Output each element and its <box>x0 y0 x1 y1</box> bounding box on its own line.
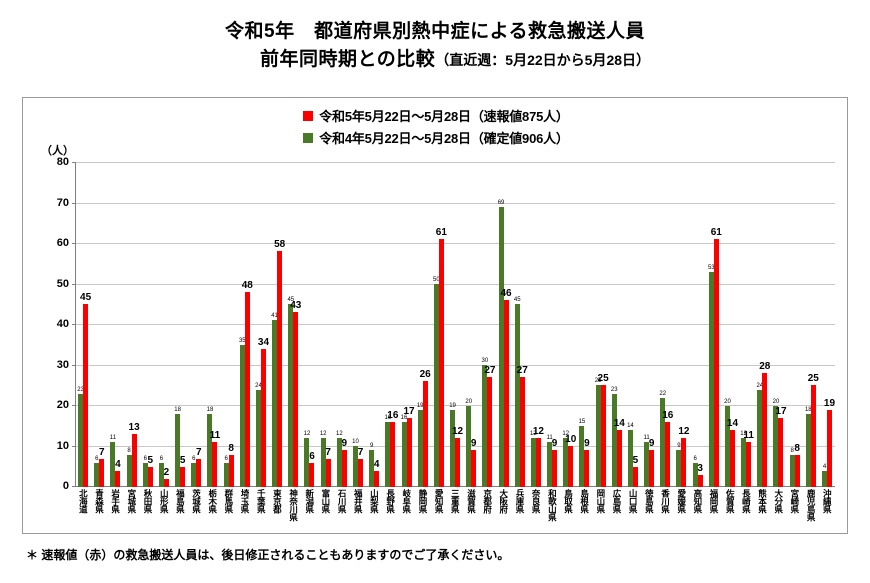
bar-group[interactable]: 2525 <box>593 162 609 487</box>
x-axis-label: 茨城県 <box>188 489 204 521</box>
bar-group[interactable]: 62 <box>156 162 172 487</box>
bar-group[interactable]: 1212 <box>528 162 544 487</box>
x-axis-label: 奈良県 <box>528 489 544 521</box>
x-axis-label-text: 鳥取県 <box>564 489 573 521</box>
x-axis-label: 群馬県 <box>221 489 237 521</box>
y-axis-tick-label: 10 <box>57 440 69 452</box>
bar-group[interactable]: 1825 <box>803 162 819 487</box>
legend-label-previous: 令和4年5月22日〜5月28日（確定値906人） <box>319 128 569 147</box>
bar-group[interactable]: 63 <box>690 162 706 487</box>
bar-value-label-previous: 9 <box>370 443 373 449</box>
bar-current-year[interactable]: 14 <box>730 430 735 487</box>
x-axis-label: 福島県 <box>172 489 188 521</box>
bar-current-year[interactable]: 6 <box>309 463 314 487</box>
x-axis-label-text: 宮崎県 <box>790 489 799 521</box>
bar-current-year[interactable]: 16 <box>665 422 670 487</box>
bar-value-label-current: 3 <box>697 464 703 474</box>
y-axis-tick-label: 20 <box>57 399 69 411</box>
x-axis-label: 山形県 <box>156 489 172 521</box>
x-axis-label: 和歌山県 <box>544 489 560 521</box>
bar-value-label-current: 26 <box>420 370 431 380</box>
x-axis-label: 宮城県 <box>124 489 140 521</box>
bar-group[interactable]: 1912 <box>447 162 463 487</box>
bar-value-label-previous: 8 <box>127 448 130 454</box>
bar-value-label-current: 4 <box>374 460 380 470</box>
bar-value-label-previous: 11 <box>110 435 116 441</box>
x-axis-label: 沖縄県 <box>819 489 835 521</box>
x-axis-label-text: 北海道 <box>79 489 88 521</box>
bar-value-label-current: 12 <box>533 427 544 437</box>
x-axis-label: 大分県 <box>770 489 786 521</box>
bar-value-label-current: 19 <box>824 399 835 409</box>
bar-value-label-previous: 6 <box>144 456 147 462</box>
title-line-1: 令和5年 都道府県別熱中症による救急搬送人員 <box>0 18 870 46</box>
x-axis-label: 山口県 <box>625 489 641 521</box>
bar-value-label-previous: 12 <box>336 431 343 437</box>
x-axis-label: 熊本県 <box>754 489 770 521</box>
bar-current-year[interactable]: 9 <box>342 450 347 487</box>
x-axis-label: 新潟県 <box>301 489 317 521</box>
x-axis-label-text: 佐賀県 <box>726 489 735 521</box>
bar-group[interactable]: 2216 <box>657 162 673 487</box>
x-axis-label-text: 福岡県 <box>710 489 719 521</box>
bar-value-label-current: 5 <box>180 456 186 466</box>
x-axis-label: 佐賀県 <box>722 489 738 521</box>
x-axis-label-text: 鹿児島県 <box>807 489 816 521</box>
bar-value-label-previous: 12 <box>320 431 327 437</box>
x-axis-label: 滋賀県 <box>463 489 479 521</box>
bar-current-year[interactable]: 5 <box>180 467 185 487</box>
chart-legend: 令和5年5月22日〜5月28日（速報値875人） 令和4年5月22日〜5月28日… <box>23 106 849 147</box>
bar-group[interactable]: 5061 <box>431 162 447 487</box>
x-axis-label: 島根県 <box>576 489 592 521</box>
bar-value-label-previous: 4 <box>823 464 826 470</box>
bar-value-label-current: 58 <box>274 240 285 250</box>
x-axis-label: 福岡県 <box>706 489 722 521</box>
y-axis-tick-label: 80 <box>57 156 69 168</box>
bar-group[interactable]: 107 <box>350 162 366 487</box>
legend-swatch-red-icon <box>303 111 313 121</box>
bar-value-label-current: 45 <box>80 293 91 303</box>
x-axis-label: 高知県 <box>690 489 706 521</box>
bar-group[interactable]: 5361 <box>706 162 722 487</box>
x-axis-label: 千葉県 <box>253 489 269 521</box>
bar-group[interactable]: 3548 <box>237 162 253 487</box>
bar-value-label-previous: 9 <box>677 443 680 449</box>
x-axis-label: 三重県 <box>447 489 463 521</box>
bar-value-label-previous: 23 <box>611 387 618 393</box>
bar-group[interactable]: 159 <box>576 162 592 487</box>
x-axis-label: 兵庫県 <box>512 489 528 521</box>
bar-value-label-previous: 6 <box>192 456 195 462</box>
x-axis-label-text: 大阪府 <box>499 489 508 521</box>
bar-current-year[interactable]: 11 <box>746 442 751 487</box>
bar-value-label-previous: 12 <box>304 431 311 437</box>
x-axis-label-text: 山形県 <box>160 489 169 521</box>
bar-value-label-current: 48 <box>242 281 253 291</box>
bar-group[interactable]: 119 <box>641 162 657 487</box>
x-axis-label-text: 岐阜県 <box>402 489 411 521</box>
x-axis-label-text: 東京都 <box>273 489 282 521</box>
bar-value-label-previous: 30 <box>482 358 489 364</box>
bar-value-label-previous: 19 <box>449 403 456 409</box>
bar-current-year[interactable]: 2 <box>164 479 169 487</box>
bar-value-label-current: 11 <box>210 431 221 441</box>
x-axis-label-text: 香川県 <box>661 489 670 521</box>
bar-current-year[interactable]: 10 <box>568 446 573 487</box>
x-axis-label-text: 秋田県 <box>144 489 153 521</box>
bar-current-year[interactable]: 8 <box>795 455 800 488</box>
bar-group[interactable]: 6946 <box>495 162 511 487</box>
x-axis-label-text: 奈良県 <box>532 489 541 521</box>
bar-current-year[interactable]: 7 <box>99 459 104 487</box>
y-axis-tick-label: 70 <box>57 197 69 209</box>
x-axis-label-text: 青森県 <box>95 489 104 521</box>
y-axis-tick-label: 50 <box>57 278 69 290</box>
x-axis-label: 静岡県 <box>415 489 431 521</box>
bar-value-label-current: 5 <box>147 456 153 466</box>
bar-value-label-current: 7 <box>325 448 331 458</box>
bar-current-year[interactable]: 11 <box>212 442 217 487</box>
bar-value-label-previous: 6 <box>95 456 98 462</box>
bar-current-year[interactable]: 45 <box>83 304 88 487</box>
bar-value-label-previous: 69 <box>498 200 505 206</box>
bar-value-label-previous: 8 <box>790 448 793 454</box>
bar-value-label-current: 8 <box>794 444 800 454</box>
bar-group[interactable]: 4158 <box>269 162 285 487</box>
bar-current-year[interactable]: 8 <box>229 455 234 488</box>
bar-value-label-current: 12 <box>678 427 689 437</box>
x-axis-label-text: 静岡県 <box>418 489 427 521</box>
x-axis-label: 東京都 <box>269 489 285 521</box>
title-line-2-main: 前年同時期との比較 <box>260 49 435 70</box>
bar-current-year[interactable]: 5 <box>633 467 638 487</box>
x-axis-label: 愛知県 <box>431 489 447 521</box>
bar-value-label-current: 34 <box>258 338 269 348</box>
bar-value-label-previous: 6 <box>693 456 696 462</box>
x-axis-label-text: 千葉県 <box>257 489 266 521</box>
bar-group[interactable]: 145 <box>625 162 641 487</box>
bar-current-year[interactable]: 17 <box>778 418 783 487</box>
legend-item-current: 令和5年5月22日〜5月28日（速報値875人） <box>303 106 569 125</box>
x-axis-label-text: 埼玉県 <box>241 489 250 521</box>
title-line-2: 前年同時期との比較（直近週：5月22日から5月28日） <box>0 46 870 74</box>
bar-value-label-current: 14 <box>727 419 738 429</box>
x-axis-label: 富山県 <box>318 489 334 521</box>
x-axis-label-text: 福井県 <box>354 489 363 521</box>
legend-item-previous: 令和4年5月22日〜5月28日（確定値906人） <box>303 128 569 147</box>
x-axis-label-text: 愛媛県 <box>677 489 686 521</box>
bar-value-label-current: 7 <box>196 448 202 458</box>
bar-group[interactable]: 1616 <box>382 162 398 487</box>
bar-value-label-current: 27 <box>484 366 495 376</box>
bar-value-label-current: 10 <box>565 435 576 445</box>
x-axis-label-text: 群馬県 <box>224 489 233 521</box>
bar-value-label-current: 4 <box>115 460 121 470</box>
x-axis-label: 広島県 <box>609 489 625 521</box>
bar-value-label-current: 25 <box>808 374 819 384</box>
bar-value-label-current: 46 <box>500 289 511 299</box>
bar-group[interactable]: 119 <box>544 162 560 487</box>
bar-group[interactable]: 912 <box>673 162 689 487</box>
bar-value-label-current: 17 <box>403 407 414 417</box>
bar-current-year[interactable]: 26 <box>423 381 428 487</box>
x-axis-label-text: 愛知県 <box>435 489 444 521</box>
bar-value-label-current: 11 <box>743 431 754 441</box>
x-axis-label-text: 島根県 <box>580 489 589 521</box>
bar-current-year[interactable]: 3 <box>698 475 703 487</box>
bar-current-year[interactable]: 12 <box>536 438 541 487</box>
x-axis-label-text: 岡山県 <box>596 489 605 521</box>
bar-group[interactable]: 94 <box>366 162 382 487</box>
bar-group[interactable]: 2314 <box>609 162 625 487</box>
legend-swatch-green-icon <box>303 133 313 143</box>
bar-value-label-current: 9 <box>471 439 477 449</box>
bar-value-label-current: 16 <box>662 411 673 421</box>
bar-current-year[interactable]: 28 <box>762 373 767 487</box>
x-axis-label-text: 石川県 <box>338 489 347 521</box>
bar-current-year[interactable]: 5 <box>148 467 153 487</box>
x-axis-label: 福井県 <box>350 489 366 521</box>
bar-current-year[interactable]: 61 <box>714 239 719 487</box>
x-axis-label-text: 長崎県 <box>742 489 751 521</box>
bar-group[interactable]: 1926 <box>415 162 431 487</box>
x-axis-label-text: 岩手県 <box>111 489 120 521</box>
bar-current-year[interactable]: 14 <box>617 430 622 487</box>
bar-value-label-previous: 6 <box>224 456 227 462</box>
bar-value-label-previous: 14 <box>627 423 634 429</box>
bar-value-label-current: 12 <box>452 427 463 437</box>
x-axis-label: 長崎県 <box>738 489 754 521</box>
y-axis-tick-label: 0 <box>63 480 69 492</box>
bar-value-label-current: 43 <box>290 301 301 311</box>
x-axis-label-text: 和歌山県 <box>548 489 557 521</box>
bar-current-year[interactable]: 17 <box>407 418 412 487</box>
bar-value-label-current: 2 <box>164 468 170 478</box>
bar-value-label-current: 17 <box>775 407 786 417</box>
x-axis-label-text: 山口県 <box>629 489 638 521</box>
bar-current-year[interactable]: 4 <box>374 471 379 487</box>
x-axis-label: 秋田県 <box>140 489 156 521</box>
x-axis-label: 青森県 <box>91 489 107 521</box>
bar-value-label-current: 7 <box>99 448 105 458</box>
footnote: ＊ 速報値（赤）の救急搬送人員は、後日修正されることもありますのでご了承ください… <box>26 546 509 563</box>
x-axis-label-text: 滋賀県 <box>467 489 476 521</box>
x-axis-label-text: 福島県 <box>176 489 185 521</box>
x-axis-label-text: 宮城県 <box>127 489 136 521</box>
x-axis-label-text: 茨城県 <box>192 489 201 521</box>
x-axis-label-text: 大分県 <box>774 489 783 521</box>
x-axis-label-text: 兵庫県 <box>515 489 524 521</box>
x-axis-label: 岐阜県 <box>398 489 414 521</box>
x-axis-label-text: 新潟県 <box>305 489 314 521</box>
bar-current-year[interactable]: 7 <box>326 459 331 487</box>
bar-value-label-current: 61 <box>436 228 447 238</box>
bar-group[interactable]: 129 <box>334 162 350 487</box>
bar-value-label-current: 8 <box>228 444 234 454</box>
bar-value-label-current: 9 <box>584 439 590 449</box>
bar-group[interactable]: 2434 <box>253 162 269 487</box>
bar-group[interactable]: 1811 <box>204 162 220 487</box>
bar-current-year[interactable]: 27 <box>520 377 525 487</box>
x-axis-label-text: 京都府 <box>483 489 492 521</box>
bar-group[interactable]: 65 <box>140 162 156 487</box>
bar-current-year[interactable]: 58 <box>277 251 282 487</box>
bar-group[interactable]: 419 <box>819 162 835 487</box>
x-axis-label: 鳥取県 <box>560 489 576 521</box>
x-axis-label-text: 山梨県 <box>370 489 379 521</box>
x-axis-label: 神奈川県 <box>285 489 301 521</box>
bar-current-year[interactable]: 7 <box>358 459 363 487</box>
title-line-2-sub: （直近週：5月22日から5月28日） <box>435 52 650 68</box>
bar-current-year[interactable]: 46 <box>504 300 509 487</box>
bar-group[interactable]: 1210 <box>560 162 576 487</box>
bar-group[interactable]: 114 <box>107 162 123 487</box>
y-axis-tick-label: 30 <box>57 359 69 371</box>
bar-current-year[interactable]: 43 <box>293 312 298 487</box>
bar-value-label-current: 6 <box>309 452 315 462</box>
bar-group[interactable]: 2428 <box>754 162 770 487</box>
bar-current-year[interactable]: 16 <box>390 422 395 487</box>
x-axis-label: 京都府 <box>479 489 495 521</box>
bar-current-year[interactable]: 12 <box>681 438 686 487</box>
bar-current-year[interactable]: 61 <box>439 239 444 487</box>
bar-value-label-current: 28 <box>759 362 770 372</box>
bar-group[interactable]: 4527 <box>512 162 528 487</box>
bar-group[interactable]: 185 <box>172 162 188 487</box>
x-axis-labels: 北海道青森県岩手県宮城県秋田県山形県福島県茨城県栃木県群馬県埼玉県千葉県東京都神… <box>75 489 835 521</box>
x-axis-label: 香川県 <box>657 489 673 521</box>
bar-value-label-previous: 6 <box>160 456 163 462</box>
bar-current-year[interactable]: 9 <box>471 450 476 487</box>
y-axis-tick-label: 60 <box>57 237 69 249</box>
bar-group[interactable]: 3027 <box>479 162 495 487</box>
x-axis-label: 岩手県 <box>107 489 123 521</box>
x-axis-label: 山梨県 <box>366 489 382 521</box>
x-axis-label: 大阪府 <box>495 489 511 521</box>
bar-current-year[interactable]: 25 <box>601 385 606 487</box>
x-axis-label: 岡山県 <box>593 489 609 521</box>
plot-area: 01020304050607080 2345671148136562185671… <box>75 162 835 487</box>
bar-group[interactable]: 68 <box>221 162 237 487</box>
bar-value-label-current: 25 <box>598 374 609 384</box>
bar-value-label-previous: 10 <box>352 439 359 445</box>
bar-value-label-current: 13 <box>129 423 140 433</box>
bar-group[interactable]: 4543 <box>285 162 301 487</box>
bar-value-label-previous: 20 <box>724 399 731 405</box>
legend-label-current: 令和5年5月22日〜5月28日（速報値875人） <box>319 106 569 125</box>
x-axis-label: 宮崎県 <box>787 489 803 521</box>
x-axis-label: 埼玉県 <box>237 489 253 521</box>
bar-current-year[interactable]: 9 <box>584 450 589 487</box>
x-axis-label: 鹿児島県 <box>803 489 819 521</box>
x-axis-label-text: 沖縄県 <box>823 489 832 521</box>
bar-group[interactable]: 67 <box>188 162 204 487</box>
bar-value-label-previous: 22 <box>659 391 666 397</box>
x-axis-label-text: 熊本県 <box>758 489 767 521</box>
bar-current-year[interactable]: 9 <box>552 450 557 487</box>
bar-value-label-previous: 18 <box>207 407 214 413</box>
x-axis-label: 長野県 <box>382 489 398 521</box>
bar-group[interactable]: 209 <box>463 162 479 487</box>
bar-current-year[interactable]: 7 <box>196 459 201 487</box>
bar-group[interactable]: 127 <box>318 162 334 487</box>
x-axis-label-text: 栃木県 <box>208 489 217 521</box>
bar-group[interactable]: 88 <box>787 162 803 487</box>
bar-value-label-previous: 20 <box>773 399 780 405</box>
y-axis-tick-label: 40 <box>57 318 69 330</box>
bar-current-year[interactable]: 4 <box>115 471 120 487</box>
chart-container: 令和5年5月22日〜5月28日（速報値875人） 令和4年5月22日〜5月28日… <box>22 97 848 534</box>
bar-group[interactable]: 1211 <box>738 162 754 487</box>
bar-group[interactable]: 1617 <box>398 162 414 487</box>
bar-group[interactable]: 67 <box>91 162 107 487</box>
bar-current-year[interactable]: 12 <box>455 438 460 487</box>
bar-value-label-current: 5 <box>633 456 639 466</box>
bar-group[interactable]: 2017 <box>770 162 786 487</box>
bar-value-label-previous: 20 <box>465 399 472 405</box>
x-axis-label-text: 徳島県 <box>645 489 654 521</box>
bar-value-label-current: 61 <box>711 228 722 238</box>
bar-current-year[interactable]: 25 <box>811 385 816 487</box>
bar-value-label-current: 16 <box>387 411 398 421</box>
x-axis-label-text: 富山県 <box>321 489 330 521</box>
page-title: 令和5年 都道府県別熱中症による救急搬送人員 前年同時期との比較（直近週：5月2… <box>0 0 870 73</box>
bar-value-label-current: 9 <box>649 439 655 449</box>
bar-current-year[interactable]: 27 <box>487 377 492 487</box>
bar-current-year[interactable]: 34 <box>261 349 266 487</box>
bar-current-year[interactable]: 48 <box>245 292 250 487</box>
bar-group[interactable]: 126 <box>301 162 317 487</box>
x-axis-label-text: 長野県 <box>386 489 395 521</box>
bar-value-label-current: 9 <box>552 439 558 449</box>
bar-group[interactable]: 2345 <box>75 162 91 487</box>
bar-value-label-current: 27 <box>517 366 528 376</box>
bar-series-layer: 2345671148136562185671811683548243441584… <box>75 162 835 487</box>
x-axis-label-text: 高知県 <box>693 489 702 521</box>
bar-value-label-current: 9 <box>342 439 348 449</box>
x-axis-label: 徳島県 <box>641 489 657 521</box>
x-axis-label: 北海道 <box>75 489 91 521</box>
bar-current-year[interactable]: 9 <box>649 450 654 487</box>
x-axis-label: 栃木県 <box>204 489 220 521</box>
x-axis-label-text: 神奈川県 <box>289 489 298 521</box>
bar-group[interactable]: 813 <box>124 162 140 487</box>
bar-value-label-previous: 18 <box>174 407 181 413</box>
bar-value-label-previous: 15 <box>579 419 586 425</box>
bar-current-year[interactable]: 13 <box>132 434 137 487</box>
bar-group[interactable]: 2014 <box>722 162 738 487</box>
x-axis-label: 石川県 <box>334 489 350 521</box>
bar-value-label-previous: 45 <box>514 297 521 303</box>
bar-current-year[interactable]: 19 <box>827 410 832 487</box>
x-axis-label-text: 三重県 <box>451 489 460 521</box>
bar-value-label-current: 7 <box>358 448 364 458</box>
x-axis-label-text: 広島県 <box>613 489 622 521</box>
bar-value-label-current: 14 <box>614 419 625 429</box>
x-axis-label: 愛媛県 <box>673 489 689 521</box>
